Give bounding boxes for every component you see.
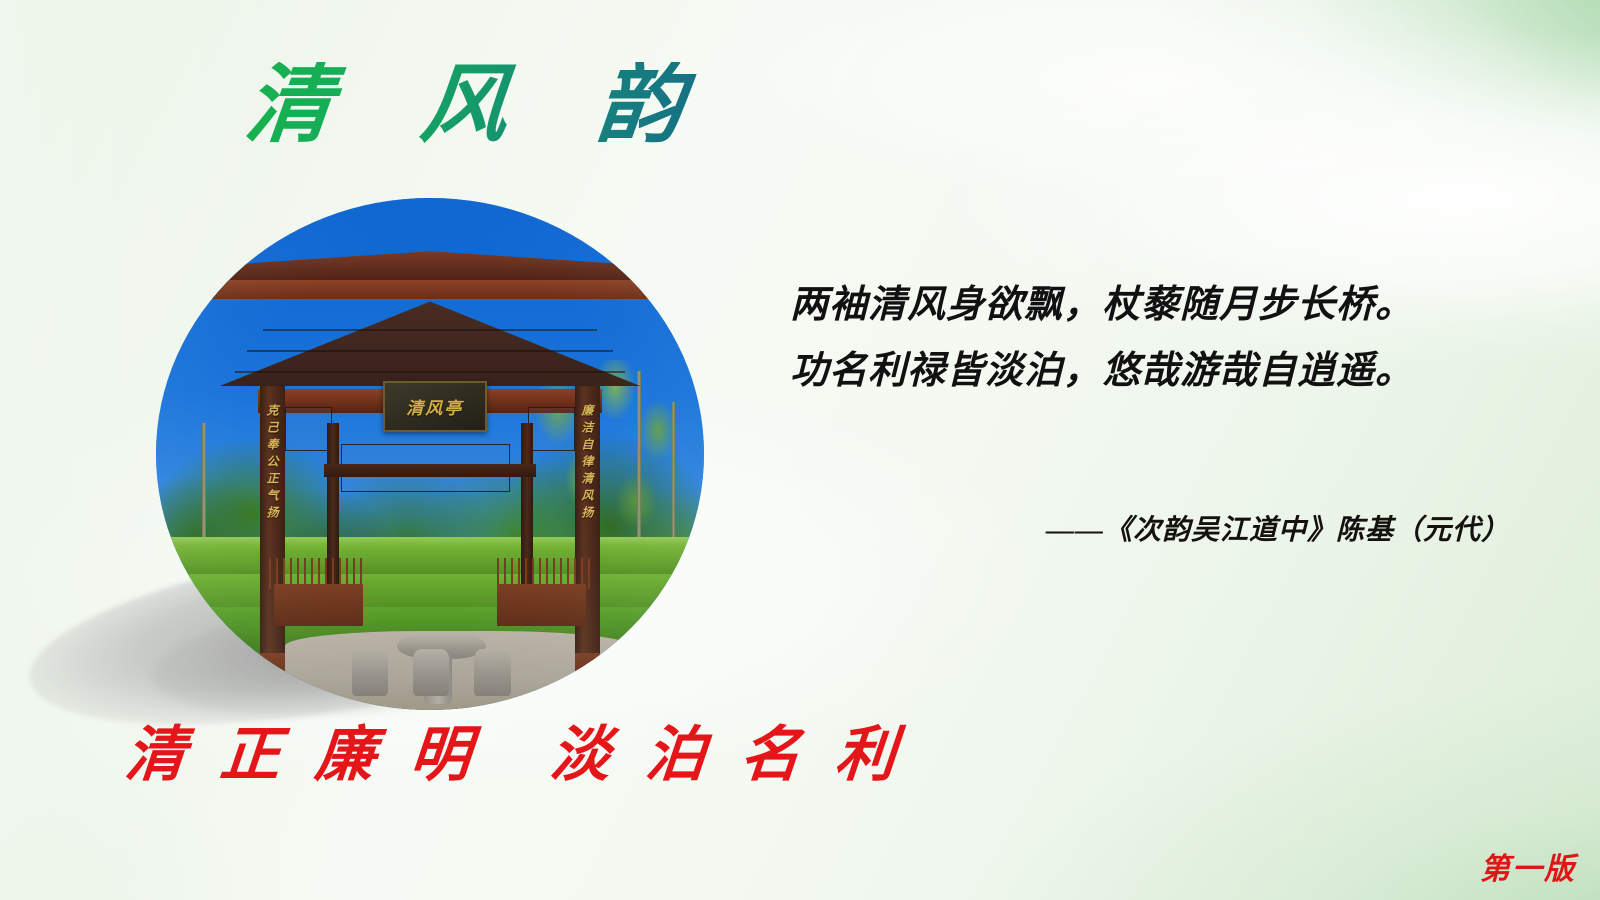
photo-inner-beam: [324, 464, 535, 476]
photo-pillar-right-base: [575, 653, 599, 683]
photo-lattice-right: [528, 407, 574, 451]
photo-pavilion-plaque: 清风亭: [383, 381, 487, 432]
photo-pillar-left: 克己奉公正气扬: [260, 386, 284, 682]
page-title: 清 风 韵: [241, 62, 721, 148]
photo-pavilion-eave: [185, 280, 674, 299]
poem-block: 两袖清风身欲飘，杖藜随月步长桥。 功名利禄皆淡泊，悠哉游哉自逍遥。: [790, 286, 1460, 418]
photo-stone-stool-3: [474, 649, 510, 696]
photo-rafter-1: [263, 329, 597, 331]
photo-rafter-2: [247, 350, 614, 352]
poster-canvas: 清 风 韵 清风亭: [0, 0, 1600, 900]
photo-lattice-left: [285, 407, 331, 451]
page-edition-marker: 第一版: [1480, 844, 1576, 888]
photo-pillar-right-inscription: 廉洁自律清风扬: [579, 404, 596, 523]
poem-line-2: 功名利禄皆淡泊，悠哉游哉自逍遥。: [790, 352, 1460, 390]
photo-bench-right: [497, 584, 586, 626]
slogan-text: 清 正 廉 明 淡 泊 名 利: [122, 706, 910, 793]
pavilion-photo: 清风亭 克己奉公正气扬 廉洁自律清风扬: [156, 198, 704, 710]
photo-pillar-left-inscription: 克己奉公正气扬: [264, 404, 281, 523]
photo-stone-stool-1: [352, 649, 388, 696]
photo-stone-stool-2: [413, 649, 449, 696]
pavilion-photo-content: 清风亭 克己奉公正气扬 廉洁自律清风扬: [156, 198, 704, 710]
photo-bench-left: [274, 584, 363, 626]
photo-plaque-label: 清风亭: [406, 394, 463, 419]
poem-line-1: 两袖清风身欲飘，杖藜随月步长桥。: [790, 286, 1460, 324]
photo-rafter-3: [235, 371, 624, 373]
poem-attribution: ——《次韵吴江道中》陈基（元代）: [1046, 508, 1510, 548]
photo-pillar-right: 廉洁自律清风扬: [575, 386, 599, 682]
photo-pillar-left-base: [260, 653, 284, 683]
